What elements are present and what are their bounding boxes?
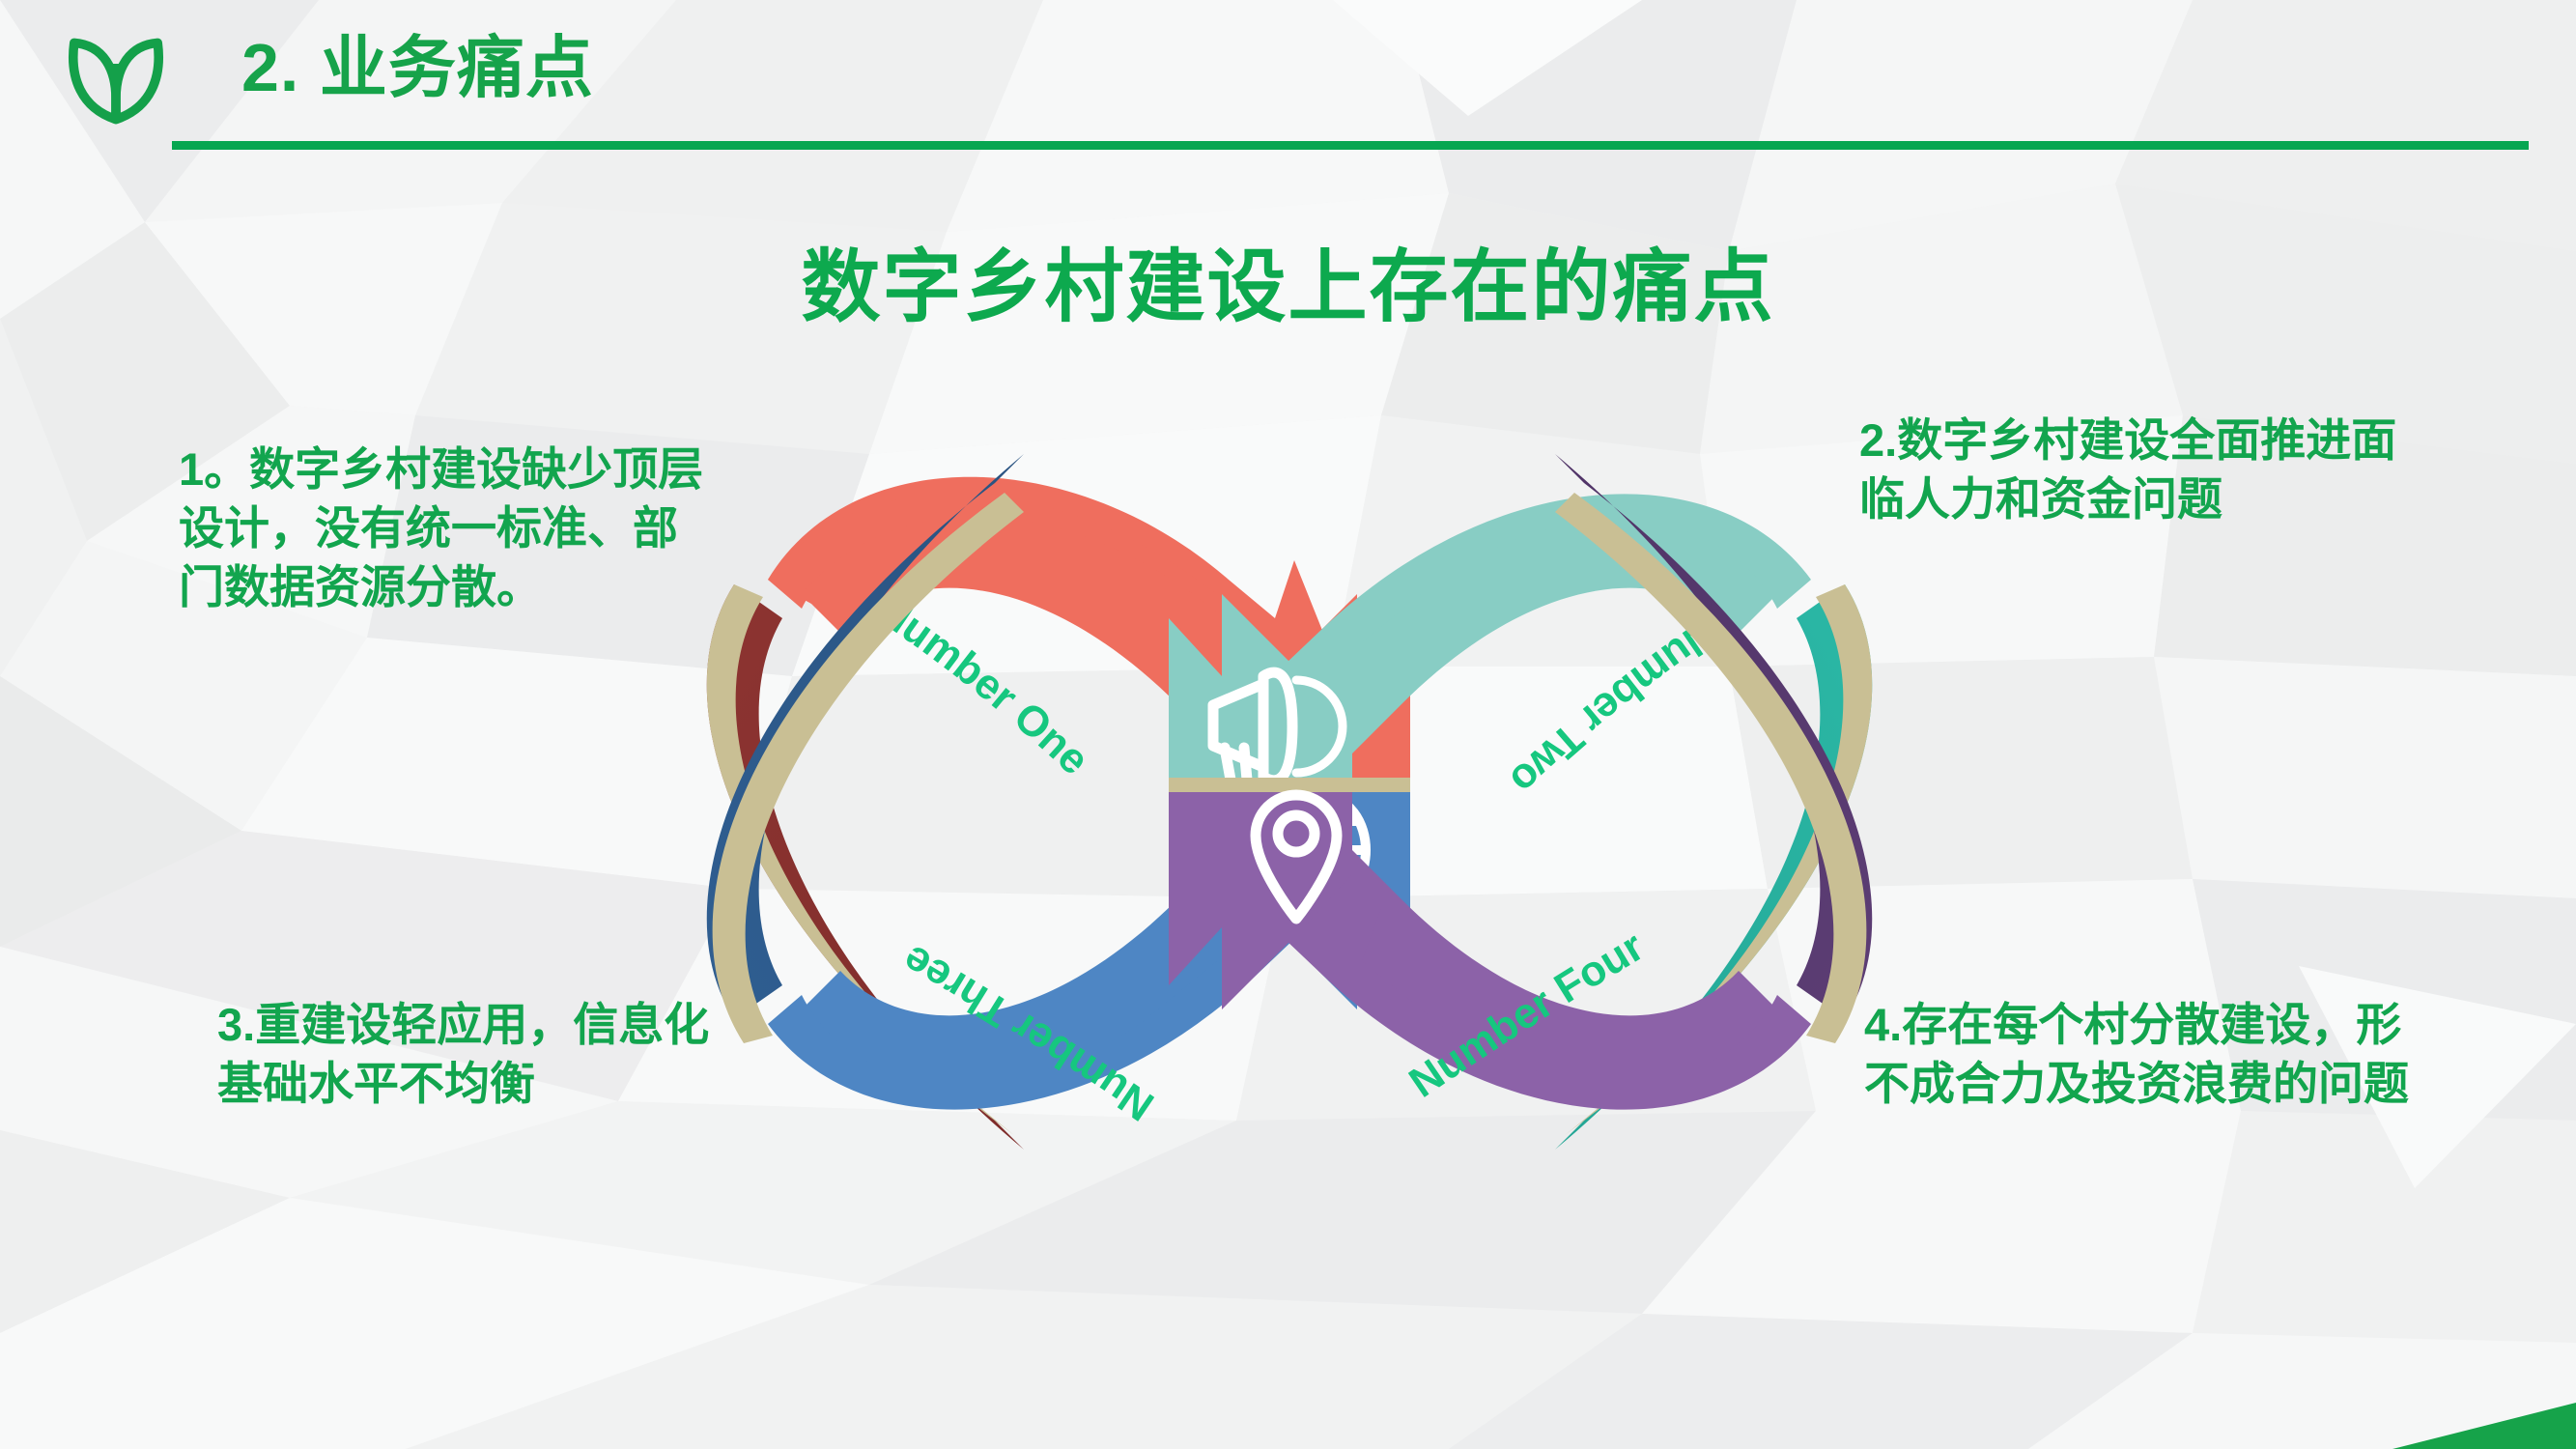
callout-text-2: 2.数字乡村建设全面推进面临人力和资金问题 <box>1859 411 2429 528</box>
corner-accent-triangle <box>2392 1403 2576 1449</box>
callout-text-1: 1。数字乡村建设缺少顶层设计，没有统一标准、部门数据资源分散。 <box>179 440 705 616</box>
page-title: 2. 业务痛点 <box>241 14 594 111</box>
butterfly-infographic: Number One Number Two <box>676 386 1903 1217</box>
callout-text-4: 4.存在每个村分散建设，形不成合力及投资浪费的问题 <box>1864 995 2429 1113</box>
header-divider <box>172 141 2529 150</box>
quadrant-two-label: Number Two <box>1501 610 1727 804</box>
main-heading: 数字乡村建设上存在的痛点 <box>0 222 2576 337</box>
slide-header: 2. 业务痛点 <box>0 0 2576 155</box>
callout-text-3: 3.重建设轻应用，信息化基础水平不均衡 <box>217 995 729 1113</box>
leaf-logo-icon <box>58 17 174 133</box>
quadrant-four-arrow-base <box>1169 778 1352 792</box>
